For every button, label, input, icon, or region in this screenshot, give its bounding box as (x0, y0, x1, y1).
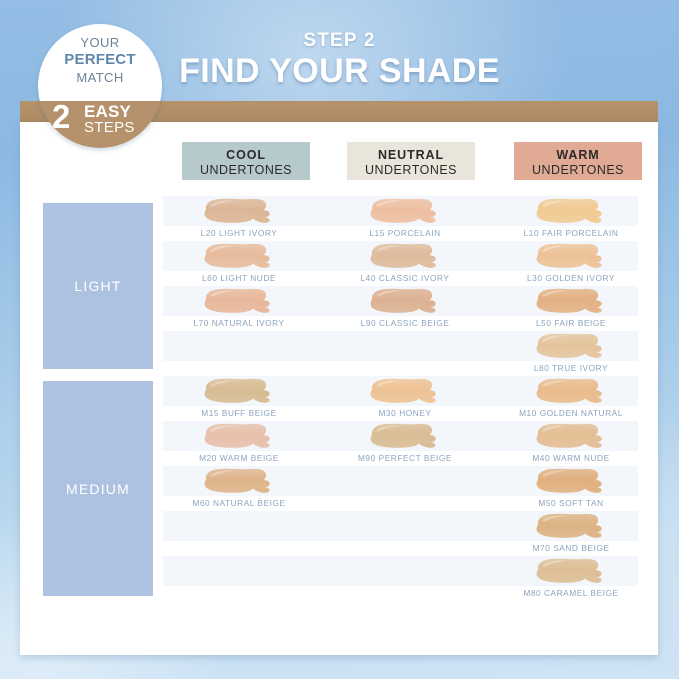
foundation-swatch-icon (531, 197, 619, 226)
shade-cell[interactable]: L10 FAIR PORCELAIN (495, 196, 653, 241)
shade-cell-empty (329, 556, 487, 601)
shade-name-label: M30 HONEY (329, 406, 481, 420)
foundation-swatch-icon (531, 467, 619, 496)
shade-cell[interactable]: M80 CARAMEL BEIGE (495, 556, 653, 601)
shade-finder-graphic: STEP 2 FIND YOUR SHADE YOUR PERFECT MATC… (0, 0, 679, 679)
shade-cell[interactable]: M90 PERFECT BEIGE (329, 421, 487, 466)
shade-name-label: M15 BUFF BEIGE (163, 406, 315, 420)
perfect-match-badge: YOUR PERFECT MATCH 2 EASY STEPS (38, 24, 162, 148)
badge-line-match: MATCH (38, 70, 162, 85)
shade-name-label: M10 GOLDEN NATURAL (495, 406, 647, 420)
shade-name-label: L20 LIGHT IVORY (163, 226, 315, 240)
foundation-swatch-icon (199, 467, 287, 496)
shade-grid: L20 LIGHT IVORYL15 PORCELAINL10 FAIR POR… (163, 196, 638, 601)
foundation-swatch-icon (531, 512, 619, 541)
shade-name-label: M80 CARAMEL BEIGE (495, 586, 647, 600)
foundation-swatch-icon (199, 422, 287, 451)
shade-cell[interactable]: M10 GOLDEN NATURAL (495, 376, 653, 421)
shade-row: L60 LIGHT NUDEL40 CLASSIC IVORYL30 GOLDE… (163, 241, 638, 286)
column-header-warm-sub: UNDERTONES (514, 163, 642, 177)
column-header-warm: WARM UNDERTONES (514, 142, 642, 180)
badge-step-number: 2 (52, 100, 70, 133)
foundation-swatch-icon (365, 287, 453, 316)
foundation-swatch-icon (531, 332, 619, 361)
shade-cell[interactable]: L20 LIGHT IVORY (163, 196, 321, 241)
shade-name-label: M40 WARM NUDE (495, 451, 647, 465)
shade-row: M20 WARM BEIGEM90 PERFECT BEIGEM40 WARM … (163, 421, 638, 466)
foundation-swatch-icon (531, 557, 619, 586)
foundation-swatch-icon (531, 422, 619, 451)
shade-cell[interactable]: M15 BUFF BEIGE (163, 376, 321, 421)
foundation-swatch-icon (365, 197, 453, 226)
column-header-neutral: NEUTRAL UNDERTONES (347, 142, 475, 180)
badge-line-perfect: PERFECT (38, 51, 162, 68)
shade-name-label: L30 GOLDEN IVORY (495, 271, 647, 285)
shade-name-label: L80 TRUE IVORY (495, 361, 647, 375)
shade-row: L20 LIGHT IVORYL15 PORCELAINL10 FAIR POR… (163, 196, 638, 241)
foundation-swatch-icon (199, 377, 287, 406)
shade-name-label: L90 CLASSIC BEIGE (329, 316, 481, 330)
foundation-swatch-icon (531, 242, 619, 271)
foundation-swatch-icon (365, 242, 453, 271)
foundation-swatch-icon (531, 377, 619, 406)
shade-cell[interactable]: M50 SOFT TAN (495, 466, 653, 511)
level-block-medium: MEDIUM (43, 381, 153, 596)
shade-row: L70 NATURAL IVORYL90 CLASSIC BEIGEL50 FA… (163, 286, 638, 331)
shade-row: M80 CARAMEL BEIGE (163, 556, 638, 601)
foundation-swatch-icon (199, 242, 287, 271)
shade-name-label: M20 WARM BEIGE (163, 451, 315, 465)
shade-name-label: M50 SOFT TAN (495, 496, 647, 510)
shade-cell-empty (163, 331, 321, 376)
shade-cell[interactable]: M70 SAND BEIGE (495, 511, 653, 556)
shade-name-label: L15 PORCELAIN (329, 226, 481, 240)
column-header-neutral-name: NEUTRAL (347, 148, 475, 162)
column-header-neutral-sub: UNDERTONES (347, 163, 475, 177)
shade-cell[interactable]: M40 WARM NUDE (495, 421, 653, 466)
shade-name-label: L40 CLASSIC IVORY (329, 271, 481, 285)
shade-cell[interactable]: L70 NATURAL IVORY (163, 286, 321, 331)
shade-cell[interactable]: L80 TRUE IVORY (495, 331, 653, 376)
shade-cell-empty (329, 511, 487, 556)
column-header-cool: COOL UNDERTONES (182, 142, 310, 180)
shade-cell[interactable]: L15 PORCELAIN (329, 196, 487, 241)
shade-cell-empty (329, 331, 487, 376)
foundation-swatch-icon (365, 377, 453, 406)
shade-name-label: L10 FAIR PORCELAIN (495, 226, 647, 240)
shade-cell[interactable]: L40 CLASSIC IVORY (329, 241, 487, 286)
foundation-swatch-icon (199, 197, 287, 226)
shade-name-label: L50 FAIR BEIGE (495, 316, 647, 330)
column-header-warm-name: WARM (514, 148, 642, 162)
shade-row: M15 BUFF BEIGEM30 HONEYM10 GOLDEN NATURA… (163, 376, 638, 421)
shade-cell[interactable]: M30 HONEY (329, 376, 487, 421)
column-header-cool-name: COOL (182, 148, 310, 162)
shade-cell-empty (163, 556, 321, 601)
shade-cell[interactable]: L60 LIGHT NUDE (163, 241, 321, 286)
shade-cell[interactable]: L90 CLASSIC BEIGE (329, 286, 487, 331)
shade-cell-empty (329, 466, 487, 511)
shade-row: M60 NATURAL BEIGEM50 SOFT TAN (163, 466, 638, 511)
shade-name-label: M60 NATURAL BEIGE (163, 496, 315, 510)
shade-name-label: M70 SAND BEIGE (495, 541, 647, 555)
shade-cell-empty (163, 511, 321, 556)
shade-row: M70 SAND BEIGE (163, 511, 638, 556)
column-header-cool-sub: UNDERTONES (182, 163, 310, 177)
shade-cell[interactable]: M60 NATURAL BEIGE (163, 466, 321, 511)
level-block-medium-label: MEDIUM (66, 481, 130, 497)
shade-name-label: L60 LIGHT NUDE (163, 271, 315, 285)
shade-name-label: L70 NATURAL IVORY (163, 316, 315, 330)
shade-cell[interactable]: L50 FAIR BEIGE (495, 286, 653, 331)
foundation-swatch-icon (199, 287, 287, 316)
badge-line-steps: STEPS (84, 119, 135, 136)
foundation-swatch-icon (531, 287, 619, 316)
shade-cell[interactable]: L30 GOLDEN IVORY (495, 241, 653, 286)
shade-name-label: M90 PERFECT BEIGE (329, 451, 481, 465)
shade-cell[interactable]: M20 WARM BEIGE (163, 421, 321, 466)
level-block-light-label: LIGHT (74, 278, 121, 294)
badge-line-your: YOUR (38, 35, 162, 50)
foundation-swatch-icon (365, 422, 453, 451)
level-block-light: LIGHT (43, 203, 153, 369)
shade-row: L80 TRUE IVORY (163, 331, 638, 376)
